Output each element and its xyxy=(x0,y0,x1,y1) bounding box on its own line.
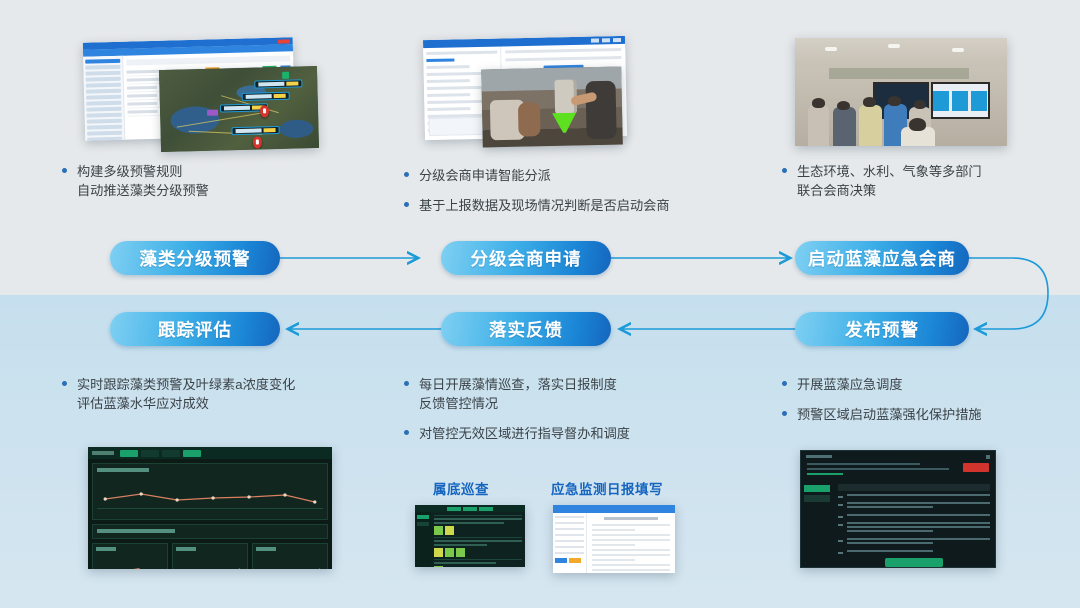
map-station-label xyxy=(232,126,280,135)
bullet-text: 预警区域启动蓝藻强化保护措施 xyxy=(797,405,982,424)
caption-patrol: 属底巡查 xyxy=(433,478,489,498)
bullet-dot-icon xyxy=(404,381,409,386)
bullet-item: 对管控无效区域进行指导督办和调度 xyxy=(404,424,754,443)
bullet-text: 实时跟踪藻类预警及叶绿素a浓度变化 评估蓝藻水华应对成效 xyxy=(77,375,295,413)
chart-area xyxy=(97,475,323,515)
table-header xyxy=(838,484,990,491)
small-chart-panel xyxy=(172,543,248,569)
meeting-ceiling xyxy=(795,38,1007,66)
small-chart-panel xyxy=(252,543,328,569)
meeting-wall-banner xyxy=(829,68,969,79)
bullets-step-3: 生态环境、水利、气象等多部门 联合会商决策 xyxy=(782,162,1072,211)
dashboard-tab[interactable] xyxy=(120,450,138,457)
bullet-item: 每日开展藻情巡查，落实日报制度 反馈管控情况 xyxy=(404,375,754,413)
modal-measure-table xyxy=(833,482,995,564)
bullet-text: 构建多级预警规则 自动推送藻类分级预警 xyxy=(77,162,209,200)
chart-title-bar xyxy=(97,468,149,472)
dashboard-main-chart-panel xyxy=(92,463,328,520)
screenshot-chlorophyll-trend-dashboard xyxy=(88,447,332,569)
bullet-item: 生态环境、水利、气象等多部门 联合会商决策 xyxy=(782,162,1072,200)
caption-daily-report: 应急监测日报填写 xyxy=(551,478,663,498)
table-row xyxy=(838,494,990,498)
patrol-record-item xyxy=(434,559,522,567)
daily-report-titlebar xyxy=(553,505,675,513)
table-row xyxy=(838,522,990,534)
screenshot-joint-consultation-meeting-photo xyxy=(795,38,1007,146)
modal-alert-button[interactable] xyxy=(963,463,989,472)
bullet-item: 实时跟踪藻类预警及叶绿素a浓度变化 评估蓝藻水华应对成效 xyxy=(62,375,402,413)
patrol-record-item xyxy=(434,515,522,537)
infographic-page: 构建多级预警规则 自动推送藻类分级预警 分级会商申请智能分派 基于上报数据及现场… xyxy=(0,0,1080,608)
close-icon[interactable] xyxy=(986,455,990,459)
flow-step-tracking-evaluation[interactable]: 跟踪评估 xyxy=(110,312,280,346)
table-row xyxy=(838,502,990,510)
flow-step-implement-feedback[interactable]: 落实反馈 xyxy=(441,312,611,346)
screenshot-bottom-patrol xyxy=(415,505,525,567)
patrol-toolbar xyxy=(415,505,525,512)
table-row xyxy=(838,514,990,518)
bullet-dot-icon xyxy=(404,172,409,177)
small-chart-panel xyxy=(92,543,168,569)
daily-report-preview xyxy=(587,513,675,573)
bullet-dot-icon xyxy=(404,202,409,207)
patrol-record-item xyxy=(434,537,522,559)
meeting-display-right xyxy=(931,82,990,119)
screenshot-emergency-dispatch-modal xyxy=(800,450,996,568)
modal-titlebar xyxy=(801,451,995,463)
screenshot-field-sampling-photo xyxy=(481,67,623,148)
daily-report-form-fields xyxy=(553,513,587,573)
flow-step-graded-consultation-application[interactable]: 分级会商申请 xyxy=(441,241,611,275)
modal-sidebar-item[interactable] xyxy=(804,495,830,502)
modal-sidebar xyxy=(801,482,833,564)
bullet-dot-icon xyxy=(782,168,787,173)
bullets-step-6: 实时跟踪藻类预警及叶绿素a浓度变化 评估蓝藻水华应对成效 xyxy=(62,375,402,424)
bullet-item: 分级会商申请智能分派 xyxy=(404,166,754,185)
map-station-label xyxy=(242,91,290,100)
bullet-dot-icon xyxy=(782,411,787,416)
modal-meta xyxy=(801,463,995,482)
bullet-dot-icon xyxy=(404,430,409,435)
bullet-text: 开展蓝藻应急调度 xyxy=(797,375,903,394)
bullet-item: 预警区域启动蓝藻强化保护措施 xyxy=(782,405,1072,424)
dashboard-tab[interactable] xyxy=(183,450,201,457)
screenshot-algae-warning-map xyxy=(159,66,319,152)
photo-person xyxy=(518,103,541,137)
bullet-text: 分级会商申请智能分派 xyxy=(419,166,551,185)
flow-step-start-cyanobacteria-emergency-consultation[interactable]: 启动蓝藻应急会商 xyxy=(795,241,969,275)
bullet-item: 构建多级预警规则 自动推送藻类分级预警 xyxy=(62,162,392,200)
dashboard-subsection-title xyxy=(92,524,328,539)
map-station-label xyxy=(254,79,302,88)
dashboard-tab[interactable] xyxy=(141,450,159,457)
flow-step-issue-warning[interactable]: 发布预警 xyxy=(795,312,969,346)
bullet-dot-icon xyxy=(782,381,787,386)
bullet-text: 基于上报数据及现场情况判断是否启动会商 xyxy=(419,196,670,215)
bullets-step-4: 开展蓝藻应急调度 预警区域启动蓝藻强化保护措施 xyxy=(782,375,1072,435)
modal-sidebar-item[interactable] xyxy=(804,485,830,492)
bullets-step-2: 分级会商申请智能分派 基于上报数据及现场情况判断是否启动会商 xyxy=(404,166,754,226)
screenshot-emergency-daily-report-form xyxy=(553,505,675,573)
table-row xyxy=(838,538,990,546)
map-alert-pin xyxy=(252,136,261,148)
bullet-text: 对管控无效区域进行指导督办和调度 xyxy=(419,424,630,443)
bullet-item: 基于上报数据及现场情况判断是否启动会商 xyxy=(404,196,754,215)
patrol-sidebar xyxy=(415,512,431,567)
table-row xyxy=(838,550,990,554)
map-alert-pin xyxy=(259,105,268,117)
bullet-text: 每日开展藻情巡查，落实日报制度 反馈管控情况 xyxy=(419,375,617,413)
daily-report-submit-button[interactable] xyxy=(569,558,581,563)
dashboard-toolbar xyxy=(88,447,332,459)
bullets-step-5: 每日开展藻情巡查，落实日报制度 反馈管控情况 对管控无效区域进行指导督办和调度 xyxy=(404,375,754,454)
patrol-record-list xyxy=(431,512,525,567)
bullet-text: 生态环境、水利、气象等多部门 联合会商决策 xyxy=(797,162,982,200)
bullet-item: 开展蓝藻应急调度 xyxy=(782,375,1072,394)
dashboard-tab[interactable] xyxy=(162,450,180,457)
bullets-step-1: 构建多级预警规则 自动推送藻类分级预警 xyxy=(62,162,392,211)
photo-person xyxy=(586,81,617,140)
modal-confirm-button[interactable] xyxy=(885,558,943,567)
dashboard-small-charts-row xyxy=(92,543,328,569)
daily-report-save-button[interactable] xyxy=(555,558,567,563)
bullet-dot-icon xyxy=(62,381,67,386)
table-sidebar xyxy=(83,56,125,141)
bullet-dot-icon xyxy=(62,168,67,173)
flow-step-algae-grading-warning[interactable]: 藻类分级预警 xyxy=(110,241,280,275)
